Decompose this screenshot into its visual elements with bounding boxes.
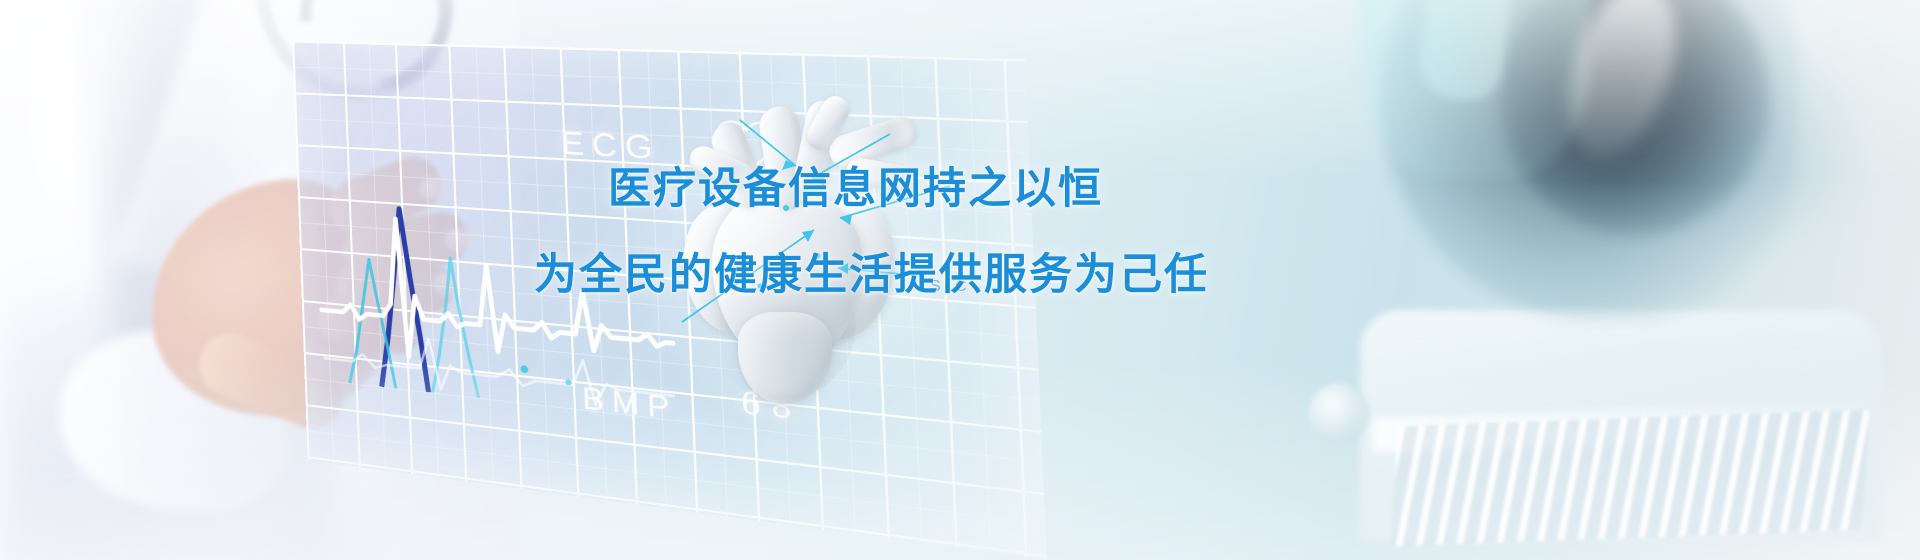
tech-arrow-line-4	[740, 120, 796, 166]
headline-secondary: 为全民的健康生活提供服务为己任	[534, 252, 1728, 298]
medical-banner: ECG BMP 68	[0, 0, 1920, 560]
banner-copy: 医疗设备信息网持之以恒 为全民的健康生活提供服务为己任	[608, 166, 1728, 299]
headline-primary: 医疗设备信息网持之以恒	[608, 166, 1728, 212]
